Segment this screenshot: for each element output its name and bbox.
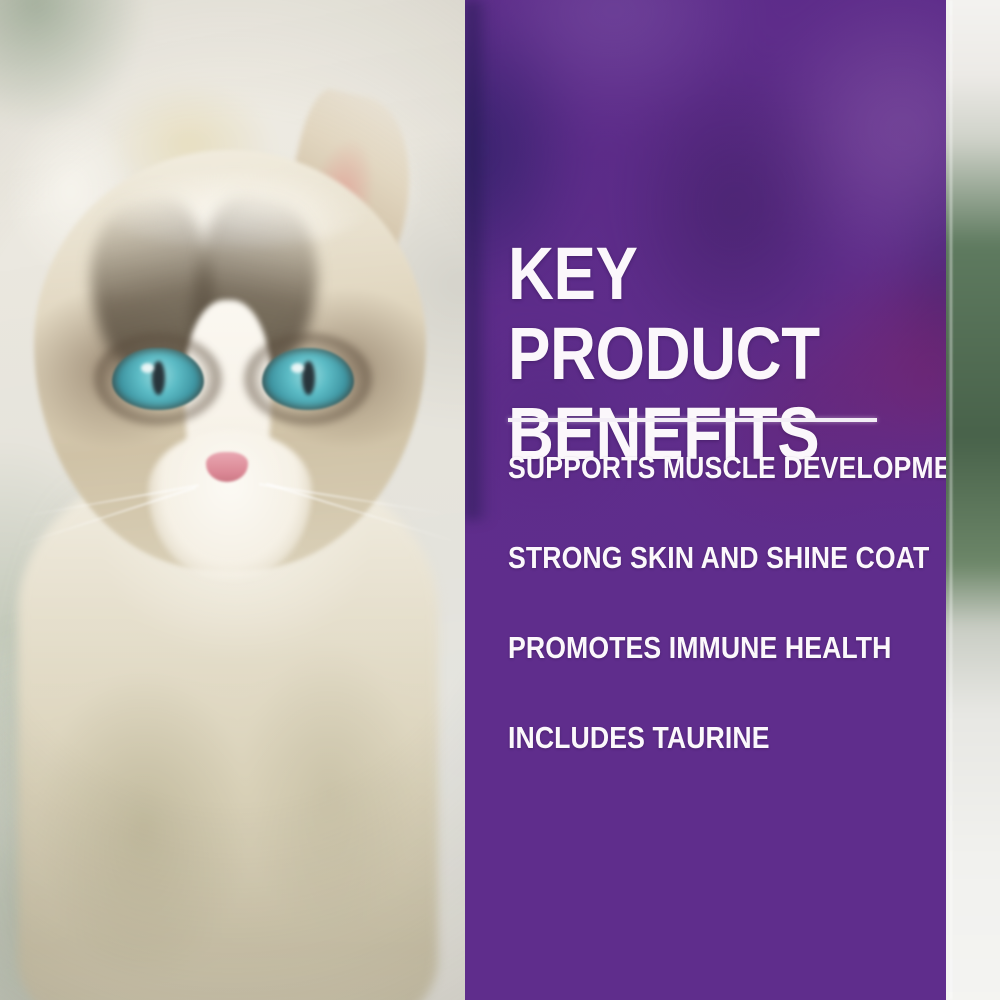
benefit-item: INCLUDES TAURINE bbox=[508, 722, 869, 812]
panel-content: KEY PRODUCT BENEFITS SUPPORTS MUSCLE DEV… bbox=[508, 0, 928, 1000]
photo-vignette bbox=[0, 0, 465, 1000]
benefit-item: PROMOTES IMMUNE HEALTH bbox=[508, 632, 869, 722]
right-strip-highlight bbox=[950, 0, 952, 1000]
title-divider bbox=[508, 418, 877, 422]
page-title: KEY PRODUCT BENEFITS bbox=[508, 234, 852, 474]
benefit-item: STRONG SKIN AND SHINE COAT bbox=[508, 542, 869, 632]
benefits-list: SUPPORTS MUSCLE DEVELOPMENT STRONG SKIN … bbox=[508, 452, 928, 812]
right-strip-blur bbox=[946, 0, 1000, 1000]
background-right-strip bbox=[946, 0, 1000, 1000]
panel-left-edge-shadow bbox=[465, 0, 491, 520]
benefit-item: SUPPORTS MUSCLE DEVELOPMENT bbox=[508, 452, 869, 542]
promo-canvas: KEY PRODUCT BENEFITS SUPPORTS MUSCLE DEV… bbox=[0, 0, 1000, 1000]
cat-photo bbox=[0, 0, 465, 1000]
benefits-panel: KEY PRODUCT BENEFITS SUPPORTS MUSCLE DEV… bbox=[465, 0, 946, 1000]
